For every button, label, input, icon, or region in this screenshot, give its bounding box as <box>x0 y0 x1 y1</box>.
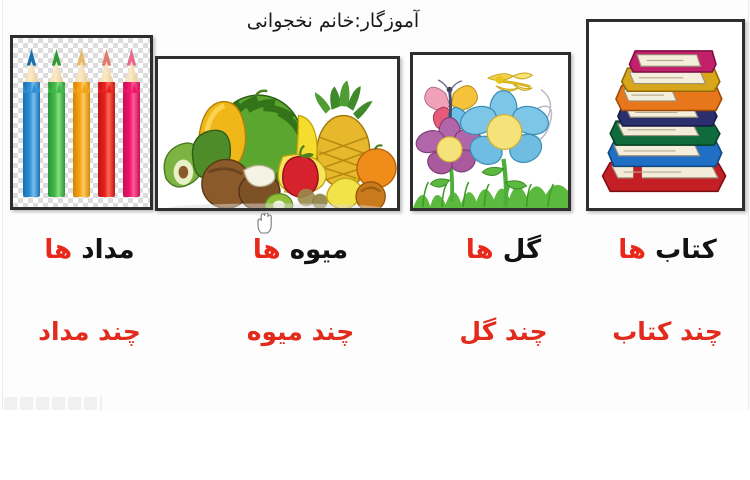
plural-word-flowers: گل ها <box>422 228 585 272</box>
plural-root-fruits: میوه <box>290 235 348 265</box>
image-panel-books[interactable] <box>586 19 745 211</box>
pencil-item <box>73 46 90 197</box>
book-item <box>629 51 716 72</box>
plural-root-pencils: مداد <box>81 235 134 265</box>
share-icon[interactable] <box>4 397 17 410</box>
fruit-basket-icon <box>158 59 397 210</box>
image-panel-pencils[interactable] <box>10 35 153 210</box>
plural-suffix-pencils: ها <box>44 235 72 265</box>
slide-canvas: آموزگار:خانم نخجوانی <box>0 0 750 480</box>
plural-suffix-fruits: ها <box>253 235 281 265</box>
pencil-item <box>48 46 65 197</box>
quantity-word-pencils: چند مداد <box>0 310 179 354</box>
quantity-word-row: چند کتاب چند گل چند میوه چند مداد <box>0 310 750 358</box>
plural-word-fruits: میوه ها <box>179 228 422 272</box>
pencil-item <box>23 46 40 197</box>
plural-word-row: کتاب ها گل ها میوه ها مداد ها <box>0 228 750 276</box>
plural-root-flowers: گل <box>503 235 541 265</box>
plural-suffix-flowers: ها <box>466 235 494 265</box>
crop-icon[interactable] <box>68 397 81 410</box>
pencil-item <box>98 46 115 197</box>
quantity-word-fruits: چند میوه <box>179 310 422 354</box>
plural-root-books: کتاب <box>655 235 717 265</box>
quantity-word-books: چند کتاب <box>585 310 750 354</box>
plural-suffix-books: ها <box>618 235 646 265</box>
camera-icon[interactable] <box>20 397 33 410</box>
eye-icon[interactable] <box>36 397 49 410</box>
flowers-icon <box>413 55 568 208</box>
quantity-word-flowers: چند گل <box>422 310 585 354</box>
pencil-item <box>123 46 140 197</box>
image-panel-flowers[interactable] <box>410 52 571 211</box>
image-icon[interactable] <box>84 397 97 410</box>
image-panel-fruits[interactable] <box>155 56 400 211</box>
brush-icon[interactable] <box>52 397 65 410</box>
ghost-toolbar[interactable] <box>4 396 102 411</box>
plural-word-books: کتاب ها <box>585 228 750 272</box>
plural-word-pencils: مداد ها <box>0 228 179 272</box>
colored-pencils-icon <box>19 46 144 197</box>
page-bottom-band <box>0 410 750 480</box>
toolbar-divider <box>100 396 102 411</box>
book-stack-icon <box>589 22 742 207</box>
